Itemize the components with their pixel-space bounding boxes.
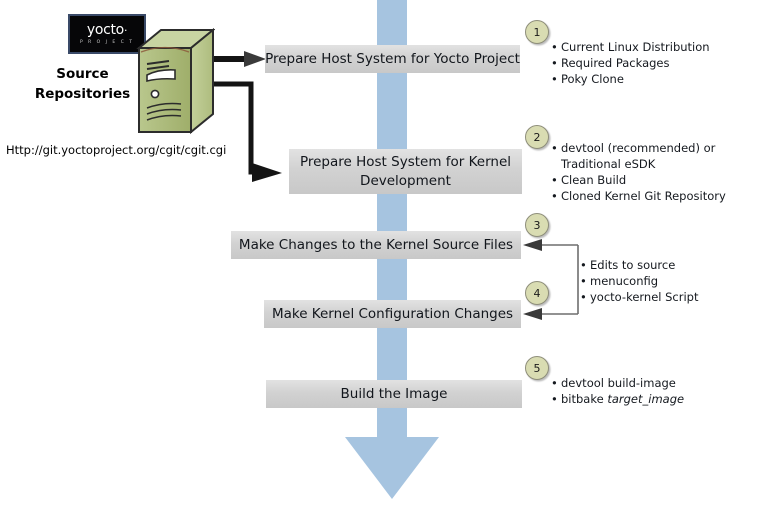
source-label-line2: Repositories <box>20 84 145 104</box>
step-badge-5: 5 <box>525 356 549 380</box>
bullet-list-step-5: •devtool build-image•bitbake target_imag… <box>551 375 761 407</box>
logo-subtitle: P R O J E C T <box>80 39 134 46</box>
bullet-item: •devtool build-image <box>551 375 761 391</box>
bullet-text: devtool (recommended) or Traditional eSD… <box>561 140 763 172</box>
bullet-text: Current Linux Distribution <box>561 39 761 55</box>
bullet-dot-icon: • <box>551 39 561 55</box>
bullet-dot-icon: • <box>551 391 561 407</box>
step-badge-1: 1 <box>525 20 549 44</box>
bullet-text: Poky Clone <box>561 71 761 87</box>
server-icon <box>135 28 215 138</box>
bullet-dot-icon: • <box>551 375 561 391</box>
source-repositories-label: Source Repositories <box>20 64 145 104</box>
bullet-item: •Edits to source <box>580 257 760 273</box>
logo-dot: · <box>124 24 127 37</box>
bullet-text: Required Packages <box>561 55 761 71</box>
source-label-line1: Source <box>20 64 145 84</box>
bullet-text-emphasis: target_image <box>607 392 684 406</box>
step-badge-4: 4 <box>525 281 549 305</box>
bullet-item: •menuconfig <box>580 273 760 289</box>
bullet-list-step-2: •devtool (recommended) or Traditional eS… <box>551 140 763 204</box>
bullet-text: devtool build-image <box>561 375 761 391</box>
bullet-text: yocto-kernel Script <box>590 289 760 305</box>
bullet-text: Edits to source <box>590 257 760 273</box>
bullet-item: •bitbake target_image <box>551 391 761 407</box>
bullet-item: •Required Packages <box>551 55 761 71</box>
bullet-list-steps-3-4: •Edits to source•menuconfig•yocto-kernel… <box>580 257 760 305</box>
bullet-item: •devtool (recommended) or Traditional eS… <box>551 140 763 172</box>
bullet-dot-icon: • <box>551 172 561 188</box>
logo-word-text: yocto <box>87 22 124 38</box>
bullet-list-step-1: •Current Linux Distribution•Required Pac… <box>551 39 761 87</box>
bullet-dot-icon: • <box>551 55 561 71</box>
bullet-dot-icon: • <box>551 188 561 204</box>
process-box-step-2[interactable]: Prepare Host System for Kernel Developme… <box>289 149 522 194</box>
bullet-text: Cloned Kernel Git Repository <box>561 188 763 204</box>
bullet-dot-icon: • <box>580 257 590 273</box>
step-badge-3: 3 <box>525 213 549 237</box>
bullet-dot-icon: • <box>551 140 561 156</box>
bullet-item: •yocto-kernel Script <box>580 289 760 305</box>
logo-wordmark: yocto· <box>87 23 127 38</box>
step-badge-2: 2 <box>525 125 549 149</box>
bullet-item: •Clean Build <box>551 172 763 188</box>
process-box-step-3[interactable]: Make Changes to the Kernel Source Files <box>231 231 521 259</box>
diagram-canvas: yocto· P R O J E C T Source Repositories… <box>0 0 769 517</box>
process-box-step-1[interactable]: Prepare Host System for Yocto Project <box>265 45 520 73</box>
bullet-dot-icon: • <box>551 71 561 87</box>
bullet-text: menuconfig <box>590 273 760 289</box>
bullet-item: •Current Linux Distribution <box>551 39 761 55</box>
flow-spine-arrowhead <box>345 437 439 499</box>
process-box-step-4[interactable]: Make Kernel Configuration Changes <box>264 300 521 328</box>
bullet-text: Clean Build <box>561 172 763 188</box>
bullet-dot-icon: • <box>580 289 590 305</box>
bullet-item: •Cloned Kernel Git Repository <box>551 188 763 204</box>
repository-url: Http://git.yoctoproject.org/cgit/cgit.cg… <box>6 143 226 157</box>
bullet-dot-icon: • <box>580 273 590 289</box>
process-box-step-5[interactable]: Build the Image <box>266 380 522 408</box>
bullet-text: bitbake target_image <box>561 391 761 407</box>
bullet-item: •Poky Clone <box>551 71 761 87</box>
